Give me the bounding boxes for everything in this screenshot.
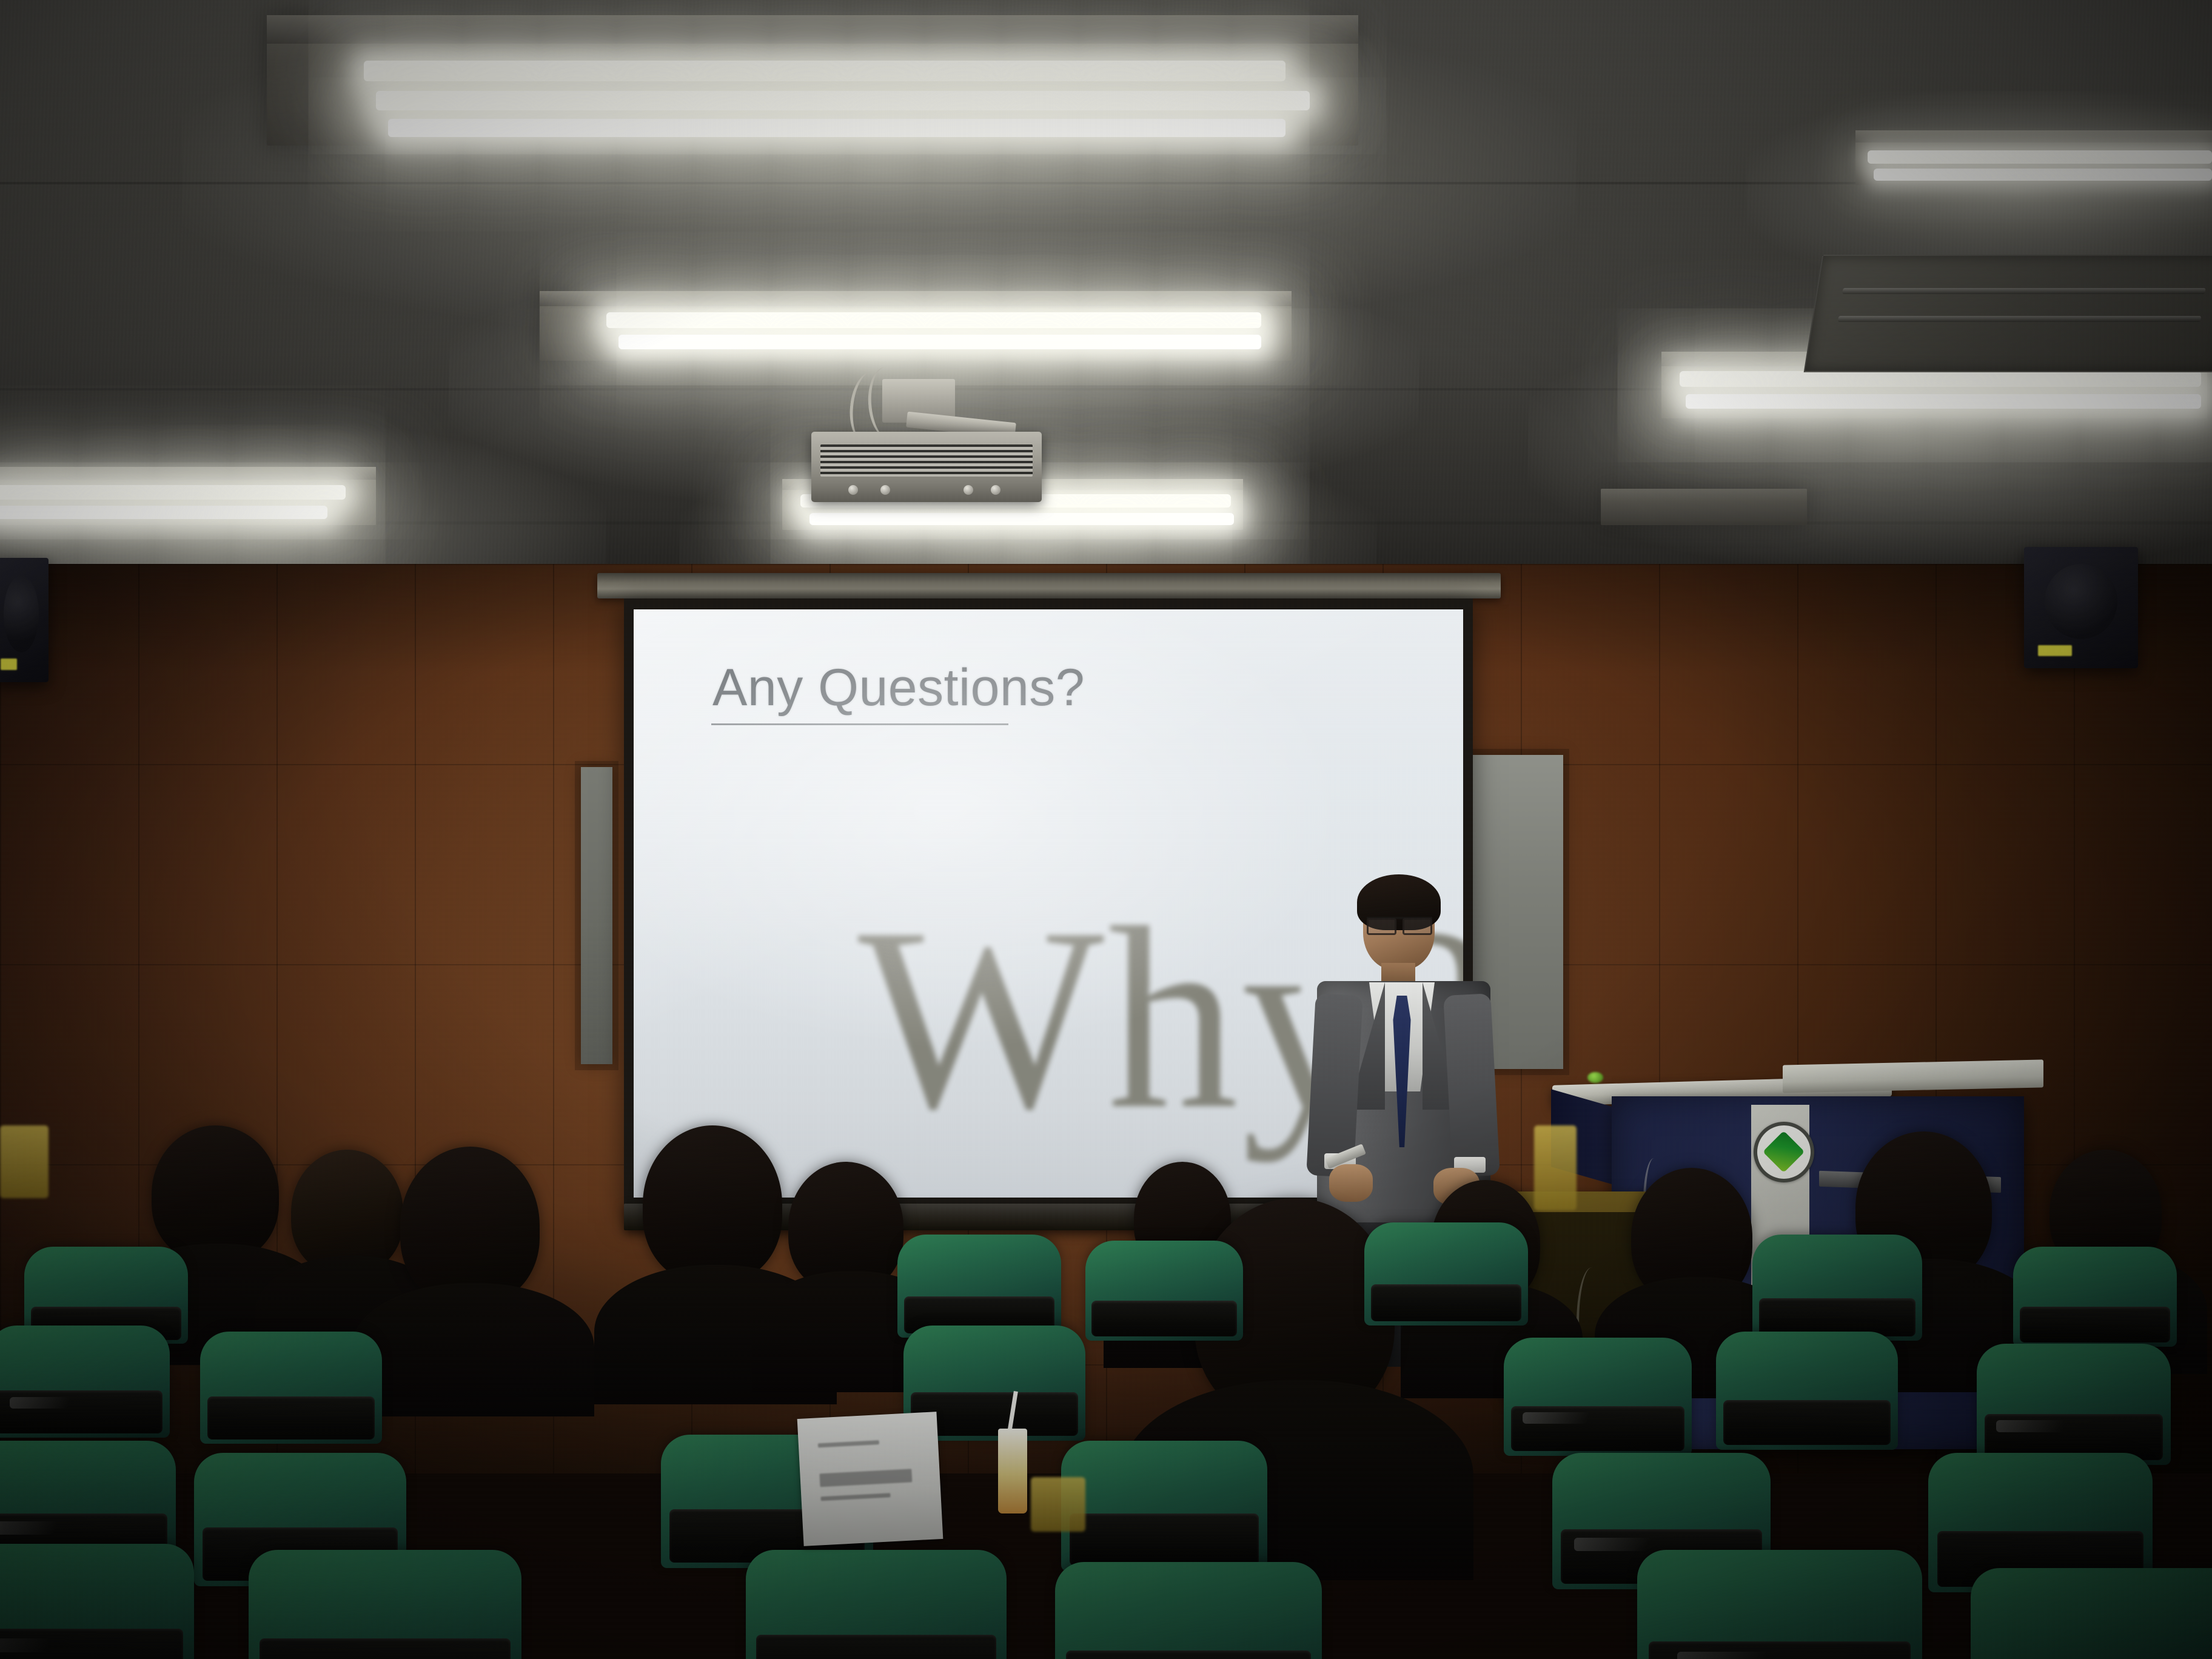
fluorescent-tube bbox=[809, 513, 1234, 525]
lectern-top-ledge bbox=[1783, 1059, 2043, 1093]
speaker-label-tag bbox=[1, 659, 17, 669]
projector-knob bbox=[964, 485, 973, 495]
screen-roller-housing bbox=[597, 573, 1501, 598]
seat-highlight bbox=[1523, 1412, 1632, 1424]
audience-seat[interactable] bbox=[1364, 1222, 1528, 1326]
fluorescent-tube bbox=[606, 312, 1261, 328]
seat-back-panel bbox=[1723, 1400, 1891, 1445]
seat-back-panel bbox=[207, 1396, 375, 1439]
speaker-label-tag bbox=[2038, 645, 2072, 656]
slide-heading: Any Questions? bbox=[712, 658, 1085, 718]
projector-knob bbox=[991, 485, 1000, 495]
fluorescent-tube bbox=[0, 485, 346, 500]
fixture-rim bbox=[1855, 130, 2212, 142]
seat-back-panel bbox=[1371, 1284, 1521, 1321]
seat-back-panel bbox=[260, 1638, 511, 1659]
fluorescent-tube bbox=[1680, 371, 2201, 387]
audience-object-yellow bbox=[0, 1125, 49, 1198]
seat-highlight bbox=[1677, 1652, 1825, 1659]
audience-seat[interactable] bbox=[0, 1544, 194, 1659]
seat-back-panel bbox=[1070, 1513, 1259, 1566]
audience-seat[interactable] bbox=[1637, 1550, 1922, 1659]
projector-vents bbox=[820, 444, 1033, 477]
wall-speaker-left bbox=[0, 558, 49, 682]
projector-knob bbox=[880, 485, 890, 495]
fluorescent-tube bbox=[618, 335, 1261, 349]
seat-back-panel bbox=[1066, 1651, 1312, 1659]
fluorescent-tube bbox=[0, 506, 327, 519]
fluorescent-tube bbox=[1874, 169, 2212, 181]
audience-seat[interactable] bbox=[249, 1550, 521, 1659]
audience-seat[interactable] bbox=[1716, 1332, 1898, 1450]
wall-speaker-right bbox=[2024, 547, 2138, 668]
audience-seat[interactable] bbox=[0, 1326, 170, 1438]
seat-highlight bbox=[0, 1638, 103, 1652]
paper-text-line bbox=[820, 1469, 913, 1487]
ceiling-light-fixture-7 bbox=[1601, 489, 1807, 525]
audience-object-yellow bbox=[1031, 1477, 1085, 1532]
ac-vent bbox=[1804, 255, 2212, 372]
glasses-lens bbox=[1403, 918, 1432, 935]
seat-highlight bbox=[0, 1521, 99, 1535]
paper-text-line bbox=[818, 1440, 879, 1447]
fixture-rim bbox=[540, 291, 1292, 306]
audience-seat[interactable] bbox=[1055, 1562, 1322, 1659]
speaker-cone bbox=[4, 575, 39, 652]
projector-knob bbox=[848, 485, 858, 495]
fluorescent-tube bbox=[1868, 150, 2212, 164]
audience-seat[interactable] bbox=[897, 1235, 1061, 1338]
audience-shoulders bbox=[352, 1283, 594, 1416]
glasses-lens bbox=[1367, 918, 1396, 935]
paper-text-line bbox=[821, 1493, 891, 1501]
lecture-hall-photo: Any Questions? Why? bbox=[0, 0, 2212, 1659]
fluorescent-tube bbox=[376, 91, 1310, 110]
fixture-rim bbox=[267, 15, 1358, 44]
audience-seat[interactable] bbox=[1971, 1568, 2212, 1659]
fluorescent-tube bbox=[364, 61, 1285, 81]
audience-area bbox=[0, 1125, 2212, 1659]
audience-seat[interactable] bbox=[1752, 1235, 1922, 1341]
audience-seat[interactable] bbox=[1504, 1338, 1692, 1456]
vent-blade bbox=[1842, 288, 2206, 294]
speaker-cone bbox=[2045, 564, 2117, 639]
audience-seat[interactable] bbox=[746, 1550, 1007, 1659]
audience-seat[interactable] bbox=[1085, 1241, 1243, 1341]
seat-back-panel bbox=[756, 1635, 996, 1659]
audience-head bbox=[152, 1125, 279, 1262]
audience-seat[interactable] bbox=[200, 1332, 382, 1444]
fluorescent-tube bbox=[1686, 394, 2201, 409]
audience-head bbox=[643, 1125, 782, 1283]
seat-highlight bbox=[10, 1397, 108, 1409]
audience-head bbox=[400, 1147, 540, 1304]
seat-back-panel bbox=[2020, 1307, 2170, 1342]
seat-back-panel bbox=[1759, 1298, 1915, 1336]
paper-handout[interactable] bbox=[797, 1412, 943, 1546]
seat-highlight bbox=[1574, 1538, 1697, 1552]
slide-heading-underline bbox=[711, 723, 1008, 725]
audience-seat[interactable] bbox=[2013, 1247, 2177, 1347]
podium-indicator-light bbox=[1587, 1072, 1603, 1083]
projector bbox=[811, 432, 1042, 502]
audience-seat[interactable] bbox=[1977, 1344, 2171, 1465]
seat-back-panel bbox=[1091, 1301, 1236, 1336]
fixture-rim bbox=[0, 467, 376, 480]
audience-object-yellow bbox=[1534, 1125, 1577, 1210]
presenter-glasses-icon bbox=[1367, 917, 1432, 919]
seat-highlight bbox=[1996, 1420, 2109, 1432]
vent-blade bbox=[1838, 316, 2202, 322]
audience-seat[interactable] bbox=[1061, 1441, 1267, 1571]
fluorescent-tube bbox=[388, 119, 1285, 137]
drink-cup bbox=[998, 1429, 1027, 1513]
